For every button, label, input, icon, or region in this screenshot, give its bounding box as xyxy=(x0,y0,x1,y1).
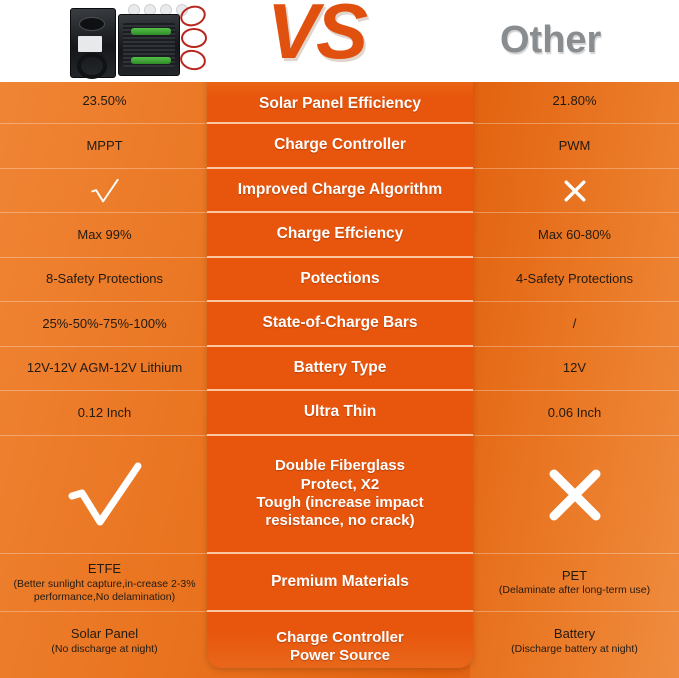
vs-label: VS xyxy=(267,0,365,70)
feature-label: Potections xyxy=(300,270,379,289)
comparison-cell-other: 21.80% xyxy=(470,80,679,124)
folding-solar-panel-product-photo xyxy=(62,2,180,80)
comparison-chart: VS Other 23.50%MPPTMax 99%8-Safety Prote… xyxy=(0,0,679,678)
check-icon xyxy=(88,176,122,206)
cell-value: 4-Safety Protections xyxy=(516,271,633,287)
comparison-cell-ours: Solar Panel(No discharge at night) xyxy=(0,612,209,670)
check-icon xyxy=(62,456,148,534)
feature-column: Solar Panel EfficiencyCharge ControllerI… xyxy=(207,60,473,668)
cell-value: PWM xyxy=(559,138,591,154)
cell-value: Solar Panel xyxy=(71,626,138,642)
comparison-cell-other: 0.06 Inch xyxy=(470,391,679,436)
chart-header: VS Other xyxy=(0,0,679,82)
cell-value: / xyxy=(573,316,577,332)
feature-label-row: Ultra Thin xyxy=(207,391,473,436)
feature-label: Premium Materials xyxy=(271,573,409,592)
feature-label: Charge Effciency xyxy=(277,225,404,244)
feature-label: State-of-Charge Bars xyxy=(262,314,417,333)
cell-value: 12V-12V AGM-12V Lithium xyxy=(27,360,182,376)
cell-value: 0.12 Inch xyxy=(78,405,132,421)
cell-value: Max 60-80% xyxy=(538,227,611,243)
feature-label-row: Battery Type xyxy=(207,347,473,391)
cell-value: 21.80% xyxy=(552,93,596,109)
feature-label: Charge Controller xyxy=(274,136,406,155)
feature-label: Battery Type xyxy=(294,359,387,378)
comparison-cell-ours: MPPT xyxy=(0,124,209,169)
feature-label-row: State-of-Charge Bars xyxy=(207,302,473,347)
comparison-cell-other: PWM xyxy=(470,124,679,169)
cell-value: 0.06 Inch xyxy=(548,405,602,421)
feature-label: Charge Controller Power Source xyxy=(276,629,404,666)
comparison-cell-ours xyxy=(0,436,209,554)
comparison-cell-ours xyxy=(0,169,209,213)
feature-label-row: Charge Controller Power Source xyxy=(207,612,473,668)
cell-value: MPPT xyxy=(86,138,122,154)
comparison-cell-other: Battery(Discharge battery at night) xyxy=(470,612,679,670)
comparison-cell-other: 4-Safety Protections xyxy=(470,258,679,302)
comparison-cell-other: / xyxy=(470,302,679,347)
comparison-cell-other: PET(Delaminate after long-term use) xyxy=(470,554,679,612)
cell-value: 8-Safety Protections xyxy=(46,271,163,287)
feature-label-row: Improved Charge Algorithm xyxy=(207,169,473,213)
cell-value: 23.50% xyxy=(82,93,126,109)
feature-label-row: Charge Controller xyxy=(207,124,473,169)
comparison-cell-other xyxy=(470,436,679,554)
cell-value: 25%-50%-75%-100% xyxy=(42,316,166,332)
feature-label-row: Charge Effciency xyxy=(207,213,473,258)
our-product-column: 23.50%MPPTMax 99%8-Safety Protections25%… xyxy=(0,80,209,678)
cell-value: 12V xyxy=(563,360,586,376)
comparison-cell-ours: 23.50% xyxy=(0,80,209,124)
other-product-column: 21.80%PWMMax 60-80%4-Safety Protections/… xyxy=(470,80,679,678)
feature-label: Improved Charge Algorithm xyxy=(238,181,442,200)
comparison-cell-other: Max 60-80% xyxy=(470,213,679,258)
cell-note: (Better sunlight capture,in-crease 2-3% … xyxy=(6,578,203,604)
cell-note: (No discharge at night) xyxy=(51,643,157,656)
feature-label-row: Double Fiberglass Protect, X2 Tough (inc… xyxy=(207,436,473,554)
comparison-cell-ours: 25%-50%-75%-100% xyxy=(0,302,209,347)
comparison-cell-ours: 0.12 Inch xyxy=(0,391,209,436)
comparison-cell-other: 12V xyxy=(470,347,679,391)
comparison-cell-ours: Max 99% xyxy=(0,213,209,258)
cell-note: (Delaminate after long-term use) xyxy=(499,584,650,597)
comparison-cell-ours: ETFE(Better sunlight capture,in-crease 2… xyxy=(0,554,209,612)
comparison-cell-ours: 12V-12V AGM-12V Lithium xyxy=(0,347,209,391)
feature-label-row: Potections xyxy=(207,258,473,302)
comparison-cell-ours: 8-Safety Protections xyxy=(0,258,209,302)
comparison-cell-other xyxy=(470,169,679,213)
cell-value: ETFE xyxy=(88,561,121,577)
cross-icon xyxy=(562,178,588,204)
cell-note: (Discharge battery at night) xyxy=(511,643,638,656)
feature-label: Ultra Thin xyxy=(304,403,376,422)
feature-label-row: Premium Materials xyxy=(207,554,473,612)
cross-icon xyxy=(544,464,606,526)
feature-label: Solar Panel Efficiency xyxy=(259,95,421,114)
cell-value: Battery xyxy=(554,626,595,642)
feature-label: Double Fiberglass Protect, X2 Tough (inc… xyxy=(256,457,423,530)
cell-value: Max 99% xyxy=(77,227,131,243)
other-label: Other xyxy=(500,21,601,59)
cell-value: PET xyxy=(562,568,587,584)
